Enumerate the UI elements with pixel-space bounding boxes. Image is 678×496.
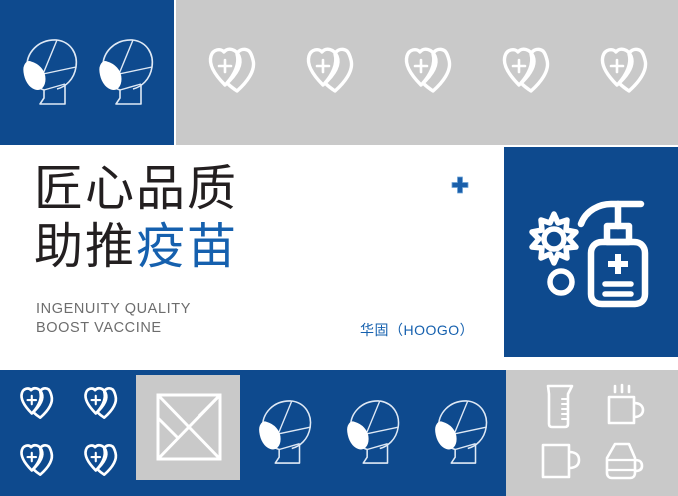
headline-line-2-prefix: 助推 (34, 218, 136, 275)
subtitle-line-1: INGENUITY QUALITY (36, 300, 191, 319)
top-heart-icon-row (176, 0, 678, 145)
bottom-mask-icon-row (240, 370, 504, 496)
masked-head-icon (16, 34, 82, 112)
steaming-cup-icon (602, 383, 646, 429)
plus-cross-icon (450, 175, 470, 195)
masked-head-icon (428, 395, 492, 471)
double-heart-plus-icon (5, 441, 67, 483)
top-mask-icon-row (0, 0, 174, 145)
gear-virus-icon (532, 214, 576, 263)
subtitle: INGENUITY QUALITY BOOST VACCINE (36, 300, 191, 338)
masked-head-icon (92, 34, 158, 112)
double-heart-plus-icon (5, 384, 67, 426)
headline-line-1: 匠心品质 (34, 160, 334, 218)
graduated-beaker-icon (541, 383, 579, 429)
bottle-cross-mark (608, 254, 628, 274)
headline-line-2: 助推疫苗 (34, 218, 334, 276)
headline-line-2-accent: 疫苗 (136, 218, 238, 275)
mug-icon (538, 440, 582, 482)
double-heart-plus-icon (481, 44, 569, 102)
bottom-vessel-icon-grid (506, 370, 678, 496)
double-heart-plus-icon (383, 44, 471, 102)
hand-sanitizer-pump-bottle-icon (523, 190, 659, 318)
carafe-icon (602, 440, 646, 482)
page-title: 匠心品质 助推疫苗 (34, 160, 334, 276)
double-heart-plus-icon (69, 441, 131, 483)
poster-canvas: 匠心品质 助推疫苗 INGENUITY QUALITY BOOST VACCIN… (0, 0, 678, 496)
double-heart-plus-icon (285, 44, 373, 102)
crossed-box-placeholder-icon (155, 392, 223, 462)
double-heart-plus-icon (187, 44, 275, 102)
subtitle-line-2: BOOST VACCINE (36, 319, 191, 338)
masked-head-icon (252, 395, 316, 471)
bottom-heart-icon-grid (0, 370, 136, 496)
brand-name: 华固（HOOGO） (360, 320, 474, 340)
double-heart-plus-icon (69, 384, 131, 426)
masked-head-icon (340, 395, 404, 471)
double-heart-plus-icon (579, 44, 667, 102)
ring-icon (550, 271, 572, 293)
